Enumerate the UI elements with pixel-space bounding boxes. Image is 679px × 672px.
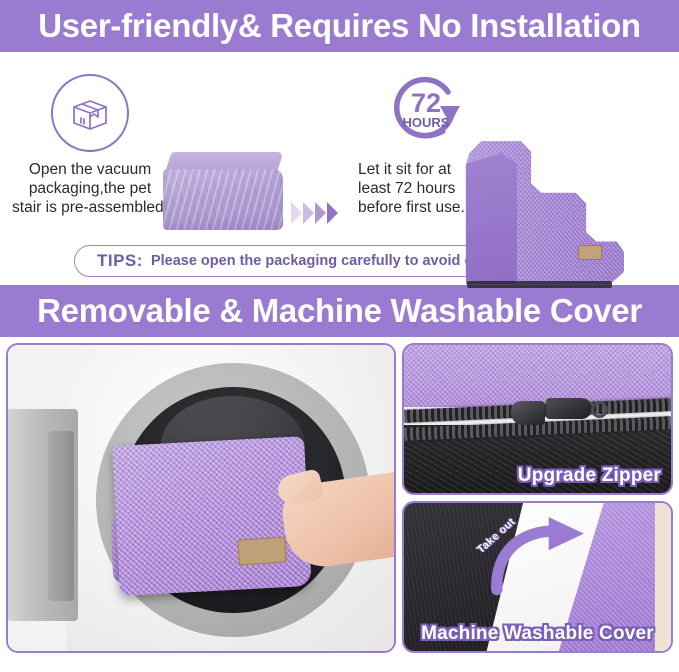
tips-label: TIPS: [97, 251, 143, 271]
svg-text:72: 72 [411, 88, 441, 118]
chevron-arrows-icon [291, 202, 338, 224]
washable-cover-photo: Take out Machine Washable Cover [402, 501, 673, 653]
cover-caption: Machine Washable Cover [404, 623, 671, 645]
step-open-packaging-caption: Open the vacuum packaging,the pet stair … [0, 160, 180, 217]
package-box-icon [51, 74, 129, 152]
top-banner: User-friendly& Requires No Installation [0, 0, 679, 52]
bottom-banner-title: Removable & Machine Washable Cover [37, 292, 642, 330]
step-open-packaging: Open the vacuum packaging,the pet stair … [0, 74, 180, 217]
steps-section: Open the vacuum packaging,the pet stair … [0, 52, 679, 237]
vacuum-pack-photo [163, 152, 285, 230]
bottom-banner: Removable & Machine Washable Cover [0, 285, 679, 337]
svg-text:HOURS: HOURS [403, 115, 450, 130]
brand-tag-icon [578, 245, 602, 260]
washing-machine-photo [6, 343, 396, 653]
photo-grid: Upgrade Zipper Take out Machine Washable… [0, 337, 679, 659]
zipper-pull-icon [511, 401, 545, 425]
zipper-caption: Upgrade Zipper [518, 465, 661, 487]
zipper-photo: Upgrade Zipper [402, 343, 673, 495]
brand-tag-icon [237, 536, 287, 565]
pet-stairs-photo [452, 132, 624, 284]
top-banner-title: User-friendly& Requires No Installation [38, 7, 641, 45]
